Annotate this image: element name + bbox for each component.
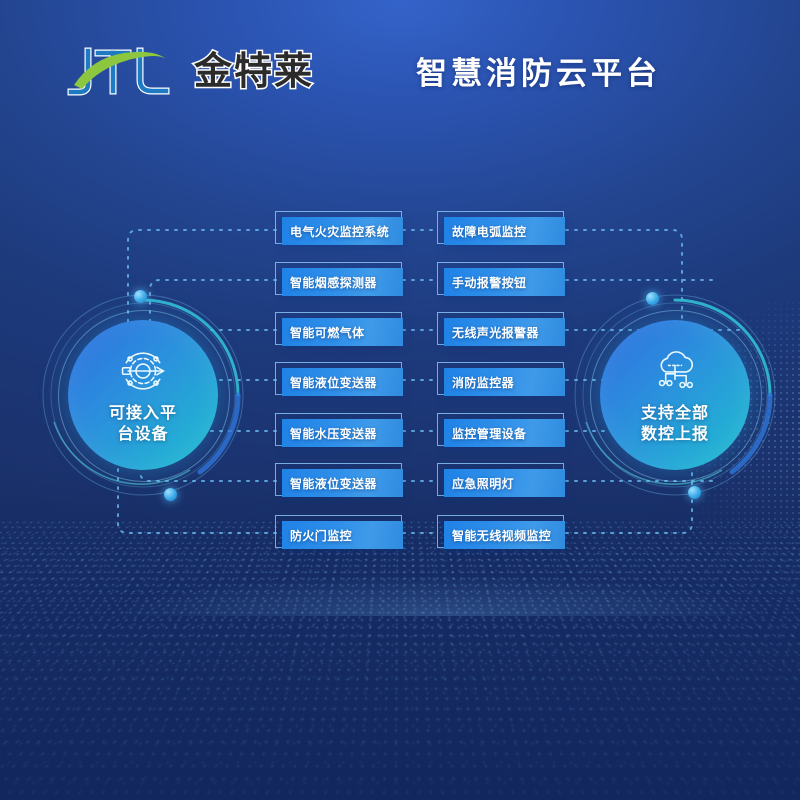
hub-right-content: 支持全部 数控上报 (600, 320, 750, 470)
node-label: 监控管理设备 (444, 419, 565, 447)
node-label: 电气火灾监控系统 (282, 217, 403, 245)
node-label: 应急照明灯 (444, 469, 565, 497)
hub-right-label: 支持全部 数控上报 (641, 402, 709, 444)
node-label: 智能无线视频监控 (444, 521, 565, 549)
hub-right[interactable]: 支持全部 数控上报 (600, 320, 750, 470)
node-label: 无线声光报警器 (444, 318, 565, 346)
cloud-network-icon (649, 347, 701, 395)
hub-right-line2: 数控上报 (641, 424, 709, 443)
hub-left-dot-top (134, 290, 147, 303)
poster-canvas: 金特莱 智慧消防云平台 (0, 0, 800, 800)
node-label: 智能液位变送器 (282, 469, 403, 497)
hub-left-line2: 台设备 (117, 424, 168, 443)
device-node-left-2[interactable]: 智能烟感探测器 (275, 262, 403, 296)
device-node-right-1[interactable]: 故障电弧监控 (437, 211, 565, 245)
device-node-right-4[interactable]: 消防监控器 (437, 362, 565, 396)
device-node-right-7[interactable]: 智能无线视频监控 (437, 515, 565, 549)
device-node-right-2[interactable]: 手动报警按钮 (437, 262, 565, 296)
device-node-left-5[interactable]: 智能水压变送器 (275, 413, 403, 447)
device-node-left-4[interactable]: 智能液位变送器 (275, 362, 403, 396)
gear-arrow-icon (117, 347, 169, 395)
device-node-left-6[interactable]: 智能液位变送器 (275, 463, 403, 497)
device-node-left-1[interactable]: 电气火灾监控系统 (275, 211, 403, 245)
node-label: 故障电弧监控 (444, 217, 565, 245)
hub-right-dot-top (646, 292, 659, 305)
device-node-right-3[interactable]: 无线声光报警器 (437, 312, 565, 346)
hub-left-content: 可接入平 台设备 (68, 320, 218, 470)
node-label: 消防监控器 (444, 368, 565, 396)
device-node-left-3[interactable]: 智能可燃气体 (275, 312, 403, 346)
hub-left-label: 可接入平 台设备 (109, 402, 177, 444)
device-node-right-6[interactable]: 应急照明灯 (437, 463, 565, 497)
node-label: 手动报警按钮 (444, 268, 565, 296)
hub-left[interactable]: 可接入平 台设备 (68, 320, 218, 470)
node-label: 智能烟感探测器 (282, 268, 403, 296)
hub-left-line1: 可接入平 (109, 403, 177, 422)
hub-left-dot-bottom (164, 488, 177, 501)
node-label: 防火门监控 (282, 521, 403, 549)
device-node-left-7[interactable]: 防火门监控 (275, 515, 403, 549)
hub-right-dot-bottom (688, 486, 701, 499)
device-architecture-diagram: 可接入平 台设备 (0, 0, 800, 800)
device-node-right-5[interactable]: 监控管理设备 (437, 413, 565, 447)
hub-right-line1: 支持全部 (641, 403, 709, 422)
node-label: 智能水压变送器 (282, 419, 403, 447)
node-label: 智能液位变送器 (282, 368, 403, 396)
node-label: 智能可燃气体 (282, 318, 403, 346)
